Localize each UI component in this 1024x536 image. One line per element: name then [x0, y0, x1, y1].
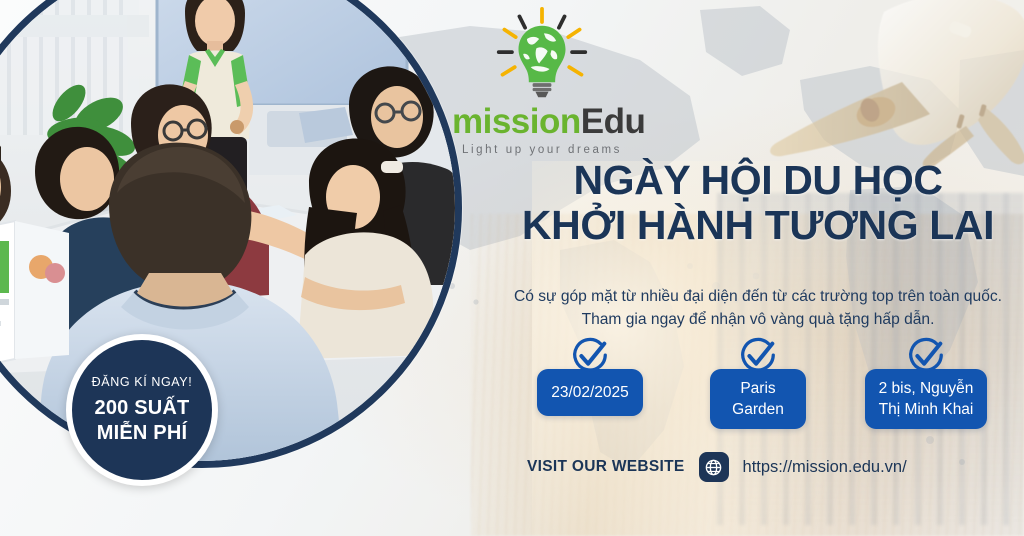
website-row[interactable]: VISIT OUR WEBSITE https://mission.edu.vn…	[527, 452, 907, 482]
brand-tagline: Light up your dreams	[452, 144, 632, 156]
event-venue-pill[interactable]: Paris Garden	[710, 369, 806, 429]
event-banner: ĐĂNG KÍ NGAY! 200 SUẤT MIỄN PHÍ	[0, 0, 1024, 536]
event-detail-venue[interactable]: Paris Garden	[683, 336, 833, 429]
wordmark-edu: Edu	[581, 102, 646, 141]
event-venue-line-1: Paris	[724, 378, 792, 399]
event-detail-address[interactable]: 2 bis, Nguyễn Thị Minh Khai	[851, 336, 1001, 429]
promo-line-2: MIỄN PHÍ	[95, 421, 190, 445]
check-circle-icon	[569, 336, 611, 378]
lightbulb-globe-icon	[495, 6, 589, 102]
subtitle: Có sự góp mặt từ nhiều đại diện đến từ c…	[506, 285, 1010, 332]
wordmark: missionEdu	[452, 104, 632, 139]
registration-badge[interactable]: ĐĂNG KÍ NGAY! 200 SUẤT MIỄN PHÍ	[66, 334, 218, 486]
event-detail-date[interactable]: 23/02/2025	[515, 336, 665, 416]
promo-line-1: 200 SUẤT	[95, 396, 190, 420]
event-venue-line-2: Garden	[724, 399, 792, 420]
check-circle-icon	[737, 336, 779, 378]
promo-top-text: ĐĂNG KÍ NGAY!	[92, 375, 193, 389]
brand-logo[interactable]: missionEdu Light up your dreams	[452, 6, 632, 156]
event-date-text: 23/02/2025	[551, 382, 629, 403]
wordmark-mission: mission	[452, 102, 581, 141]
page-title: NGÀY HỘI DU HỌC KHỞI HÀNH TƯƠNG LAI	[508, 158, 1008, 248]
event-details-row: 23/02/2025 Paris Garden	[506, 336, 1010, 429]
visit-website-label: VISIT OUR WEBSITE	[527, 458, 685, 476]
headline-line-1: NGÀY HỘI DU HỌC	[573, 157, 942, 203]
check-circle-icon	[905, 336, 947, 378]
event-address-line-1: 2 bis, Nguyễn	[879, 378, 974, 399]
headline-line-2: KHỞI HÀNH TƯƠNG LAI	[508, 203, 1008, 248]
event-address-pill[interactable]: 2 bis, Nguyễn Thị Minh Khai	[865, 369, 988, 429]
globe-icon	[699, 452, 729, 482]
website-url[interactable]: https://mission.edu.vn/	[743, 458, 907, 477]
event-address-line-2: Thị Minh Khai	[879, 399, 974, 420]
